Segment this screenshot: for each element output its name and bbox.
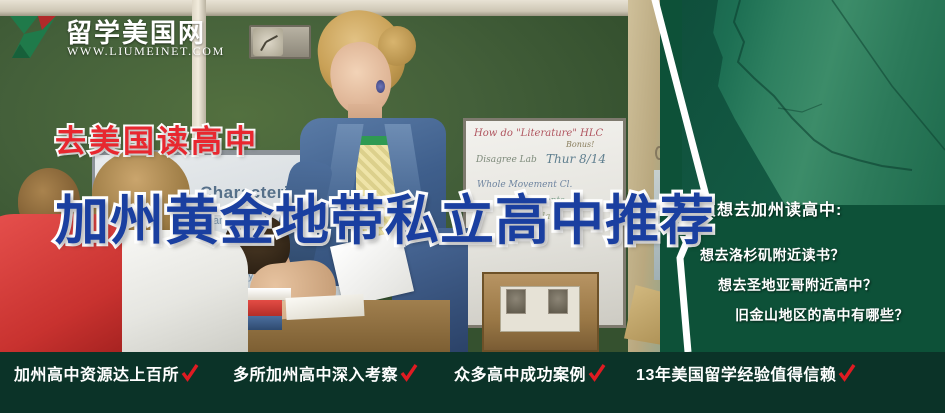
podium-portrait-right xyxy=(548,289,568,314)
coastline-and-borders xyxy=(682,0,945,205)
check-icon xyxy=(838,364,856,382)
podium-portrait-left xyxy=(506,289,526,314)
check-icon xyxy=(181,364,199,382)
benefit-label-4: 13年美国留学经验值得信赖 xyxy=(636,361,836,385)
benefit-item-1: 加州高中资源达上百所 xyxy=(14,361,199,385)
loose-papers xyxy=(285,294,364,320)
benefit-label-3: 众多高中成功案例 xyxy=(454,361,586,385)
whiteboard-line-2: Bonus! xyxy=(566,140,594,149)
benefit-item-2: 多所加州高中深入考察 xyxy=(233,361,418,385)
right-panel-heading: 只想去加州读高中: xyxy=(700,196,842,220)
headline-kicker: 去美国读高中 xyxy=(55,116,259,161)
right-panel-question-2: 想去圣地亚哥附近高中？ xyxy=(718,275,878,295)
teacher-earring xyxy=(376,80,385,93)
check-icon xyxy=(588,364,606,382)
site-logo[interactable]: 留学美国网 WWW.LIUMEINET.COM xyxy=(10,12,190,64)
promo-banner: Characterization Name, Age Use Quote Res… xyxy=(0,0,945,413)
whiteboard-line-3: Disagree Lab xyxy=(476,155,537,165)
benefit-item-3: 众多高中成功案例 xyxy=(454,361,606,385)
whiteboard-line-1: How do "Literature" HLC xyxy=(474,128,603,139)
right-panel-question-3: 旧金山地区的高中有哪些？ xyxy=(735,305,909,325)
benefits-bar: 加州高中资源达上百所 多所加州高中深入考察 众多高中成功案例 13年美国留学经验… xyxy=(0,352,945,413)
benefit-label-1: 加州高中资源达上百所 xyxy=(14,361,179,385)
whiteboard-line-4: Thur 8/14 xyxy=(546,152,606,166)
logo-url: WWW.LIUMEINET.COM xyxy=(67,44,225,59)
page-title: 加州黄金地带私立高中推荐 xyxy=(55,176,715,255)
benefit-label-2: 多所加州高中深入考察 xyxy=(233,361,398,385)
check-icon xyxy=(400,364,418,382)
site-logo-mark xyxy=(10,14,58,60)
benefit-item-4: 13年美国留学经验值得信赖 xyxy=(636,361,856,385)
right-panel-question-1: 想去洛杉矶附近读书？ xyxy=(700,245,845,265)
